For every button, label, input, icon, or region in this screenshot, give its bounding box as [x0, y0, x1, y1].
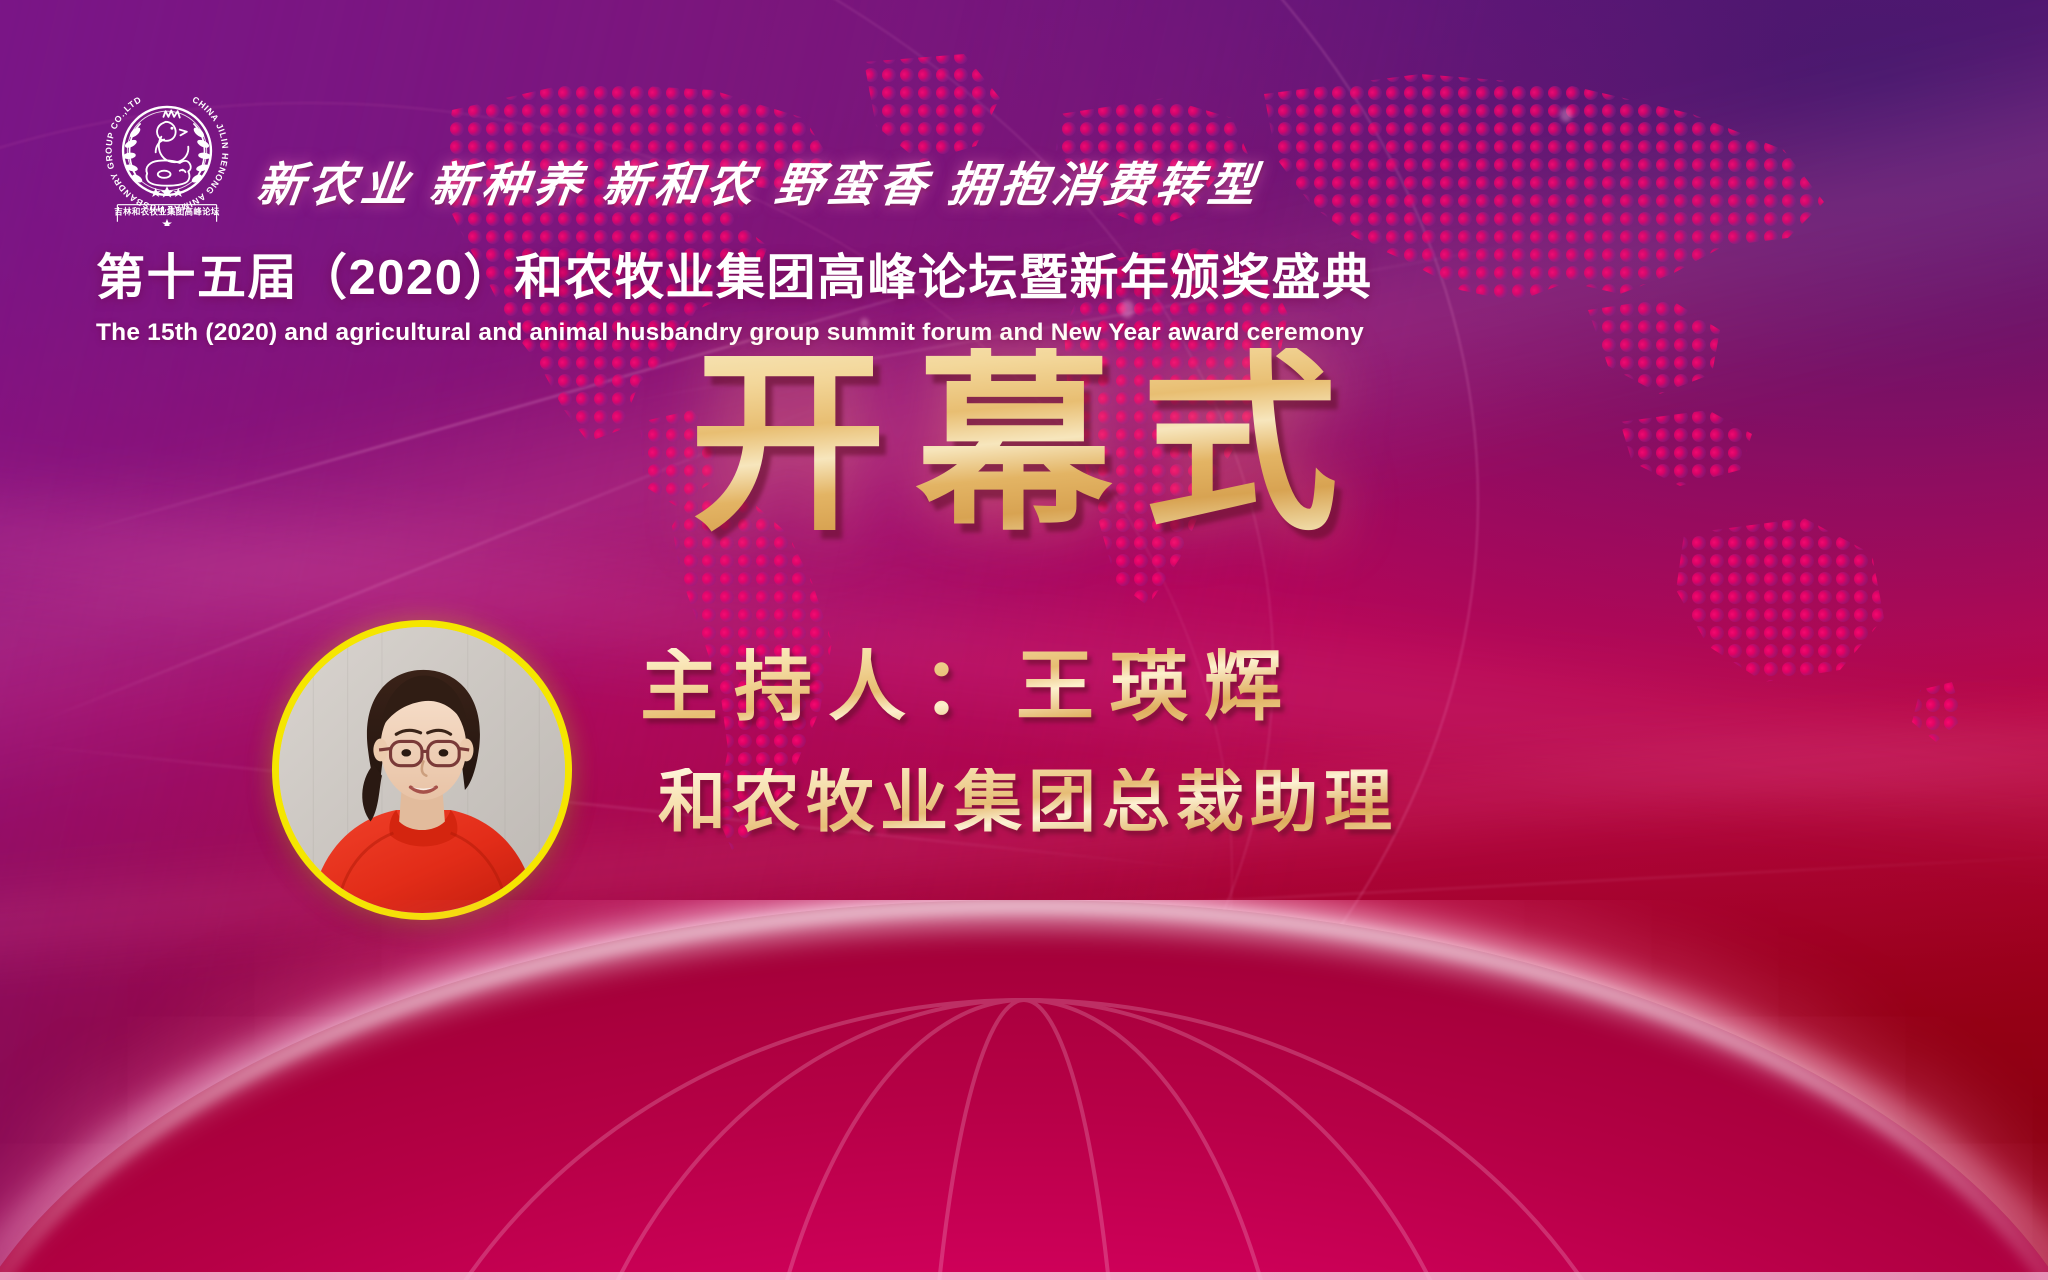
- bokeh-dot: [1560, 108, 1572, 122]
- globe-dome-rim-highlight: [0, 902, 2048, 1280]
- host-role: 和农牧业集团总裁助理: [658, 768, 1398, 836]
- bottom-edge-highlight: [0, 1272, 2048, 1280]
- headline-opening-ceremony: 开幕式: [690, 348, 1368, 544]
- host-portrait-avatar: [272, 620, 572, 920]
- header-top-row: CHINA JILIN HENONG ANIMAL HUSBANDRY GROU…: [96, 80, 1276, 226]
- globe-dome-graphic: [0, 900, 2048, 1280]
- event-header: CHINA JILIN HENONG ANIMAL HUSBANDRY GROU…: [96, 80, 1276, 347]
- company-logo-icon: CHINA JILIN HENONG ANIMAL HUSBANDRY GROU…: [96, 80, 238, 226]
- host-name: 主持人：王瑛辉: [640, 648, 1298, 726]
- event-slogan: 新农业 新种养 新和农 野蛮香 拥抱消费转型: [252, 163, 1263, 226]
- logo-caption: 吉林和农牧业集团高峰论坛: [114, 207, 220, 217]
- event-title-chinese: 第十五届（2020）和农牧业集团高峰论坛暨新年颁奖盛典: [96, 238, 1276, 309]
- presentation-slide: CHINA JILIN HENONG ANIMAL HUSBANDRY GROU…: [0, 0, 2048, 1280]
